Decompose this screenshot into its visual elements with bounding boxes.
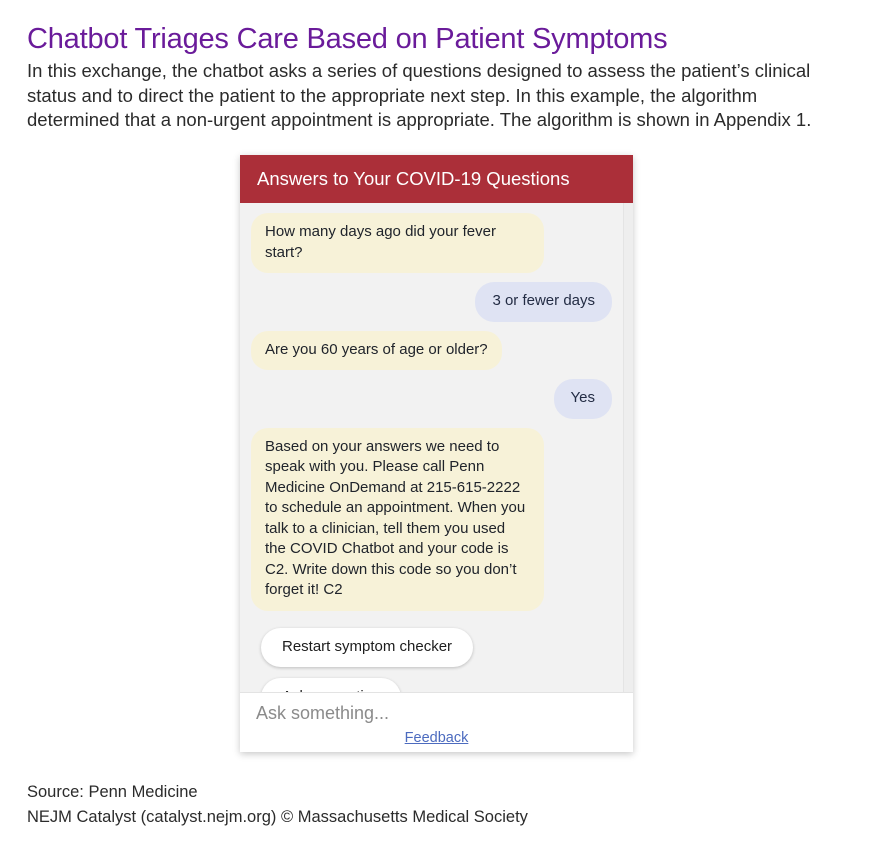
bot-message-bubble: How many days ago did your fever start?: [251, 213, 544, 273]
quick-reply-restart-wrapper: Restart symptom checker: [261, 628, 633, 678]
user-message-bubble: 3 or fewer days: [475, 282, 612, 322]
message-row-bot: How many days ago did your fever start?: [240, 213, 633, 273]
message-row-user: 3 or fewer days: [240, 282, 633, 322]
chatbot-header: Answers to Your COVID-19 Questions: [240, 155, 633, 203]
quick-reply-ask-wrapper: Ask a question: [261, 678, 633, 693]
user-message-bubble: Yes: [554, 379, 612, 419]
message-row-bot: Are you 60 years of age or older?: [240, 331, 633, 371]
chat-scrollbar[interactable]: [623, 203, 633, 692]
bot-message-bubble: Are you 60 years of age or older?: [251, 331, 502, 371]
feedback-link[interactable]: Feedback: [240, 730, 633, 746]
bot-message-bubble: Based on your answers we need to speak w…: [251, 428, 544, 611]
source-line-1: Source: Penn Medicine: [27, 780, 837, 805]
chat-message-list[interactable]: How many days ago did your fever start? …: [240, 203, 633, 692]
figure-header: Chatbot Triages Care Based on Patient Sy…: [27, 22, 852, 133]
chatbot-widget: Answers to Your COVID-19 Questions How m…: [240, 155, 633, 752]
quick-reply-group: Restart symptom checker Ask a question: [240, 620, 633, 693]
message-row-user: Yes: [240, 379, 633, 419]
page-title: Chatbot Triages Care Based on Patient Sy…: [27, 22, 852, 56]
restart-symptom-checker-button[interactable]: Restart symptom checker: [261, 628, 473, 667]
source-line-2: NEJM Catalyst (catalyst.nejm.org) © Mass…: [27, 805, 837, 830]
ask-a-question-button[interactable]: Ask a question: [261, 678, 401, 693]
source-credit: Source: Penn Medicine NEJM Catalyst (cat…: [27, 780, 837, 830]
message-row-bot: Based on your answers we need to speak w…: [240, 428, 633, 611]
chatbot-header-title: Answers to Your COVID-19 Questions: [257, 168, 570, 190]
figure-description: In this exchange, the chatbot asks a ser…: [27, 59, 852, 133]
chat-input-area: Feedback: [240, 692, 633, 752]
chat-message-input[interactable]: [256, 703, 586, 724]
